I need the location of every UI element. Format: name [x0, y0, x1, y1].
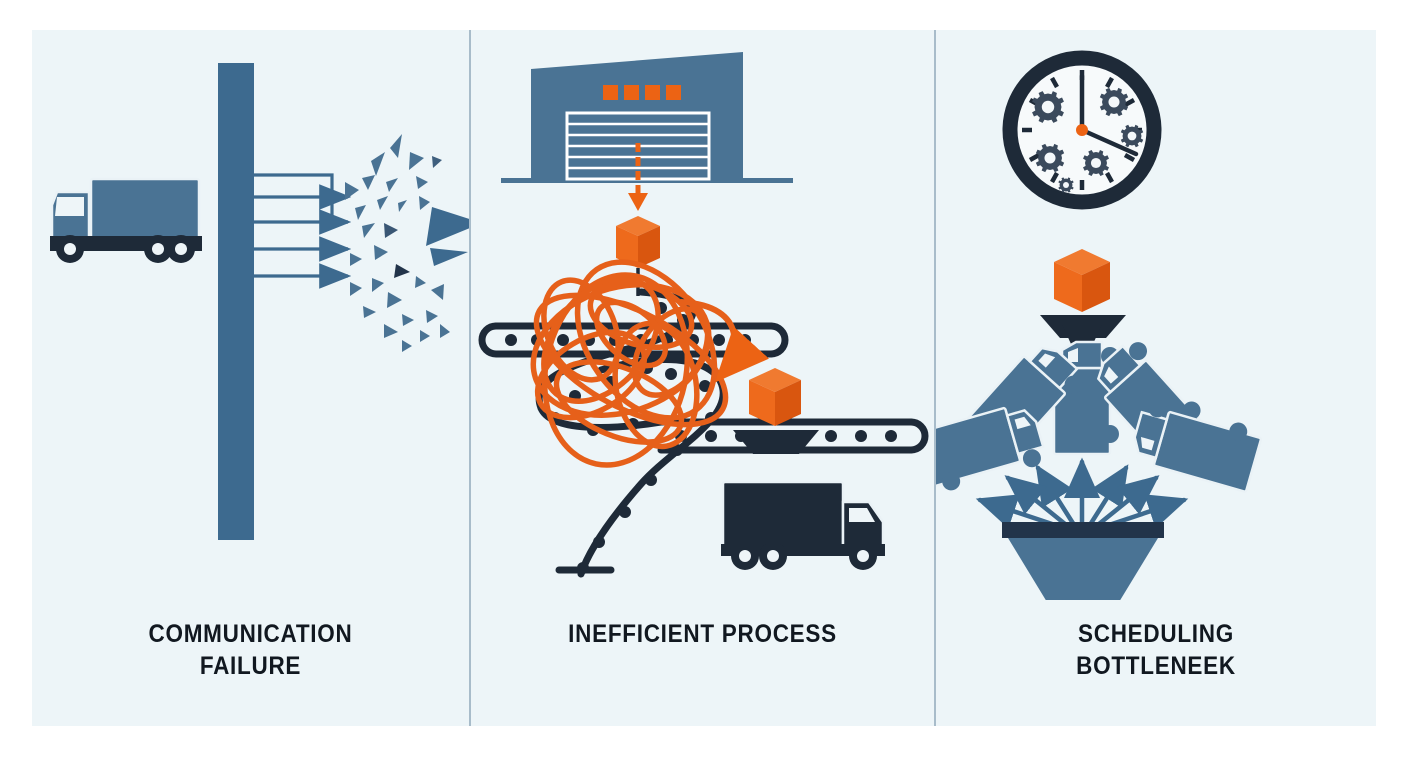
panel-scheduling-bottleneck: SCHEDULING BOTTLENEEK — [936, 30, 1376, 726]
inefficient-process-illustration — [471, 30, 934, 600]
panel-inefficient-process: INEFFICIENT PROCESS — [471, 30, 934, 726]
shattered-fragments-icon — [345, 134, 469, 352]
infographic-root: COMMUNICATION FAILURE — [0, 0, 1408, 768]
orange-package-box-icon-2 — [749, 368, 801, 426]
panel-caption-communication-failure: COMMUNICATION FAILURE — [54, 618, 447, 682]
warehouse-building-icon — [501, 52, 793, 183]
scheduling-bottleneck-illustration — [936, 30, 1376, 600]
pedestal-icon — [1040, 315, 1126, 338]
delivery-truck-icon — [50, 179, 202, 263]
infographic-canvas: COMMUNICATION FAILURE — [32, 30, 1376, 726]
panel-communication-failure: COMMUNICATION FAILURE — [32, 30, 469, 726]
funnel-icon — [1002, 522, 1164, 600]
clock-icon — [1010, 58, 1154, 202]
delivery-truck-icon — [721, 482, 885, 570]
orange-package-box-icon — [1054, 249, 1110, 312]
wall-barrier-icon — [218, 63, 254, 540]
communication-failure-illustration — [32, 30, 469, 600]
clock-center-pin-icon — [1076, 124, 1088, 136]
outgoing-arrow-icon — [980, 462, 1184, 528]
panel-caption-scheduling-bottleneck: SCHEDULING BOTTLENEEK — [958, 618, 1354, 682]
blocked-arrow-icon — [254, 175, 348, 276]
panel-caption-inefficient-process: INEFFICIENT PROCESS — [494, 618, 911, 650]
